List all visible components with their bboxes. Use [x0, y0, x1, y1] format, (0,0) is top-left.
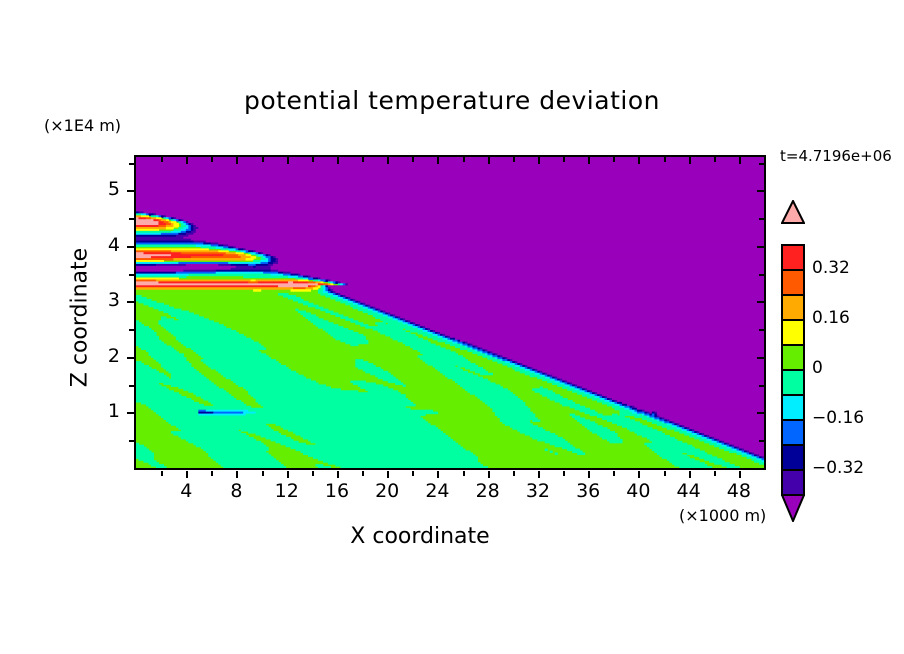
x-tick-top	[488, 157, 490, 164]
x-tick	[236, 471, 238, 478]
y-units-label: (×1E4 m)	[44, 116, 121, 135]
colorbar-tick-label: 0.16	[812, 308, 850, 328]
colorbar-tick-label: −0.32	[812, 458, 864, 478]
x-tick	[211, 471, 213, 476]
x-units-label: (×1000 m)	[679, 506, 766, 525]
y-tick-right	[759, 440, 764, 442]
x-tick	[638, 471, 640, 478]
x-tick-top	[236, 157, 238, 164]
y-tick-right	[759, 218, 764, 220]
colorbar-swatch[interactable]	[781, 469, 805, 496]
page-title: potential temperature deviation	[0, 86, 904, 115]
y-tick-right	[757, 357, 764, 359]
y-tick-right	[757, 246, 764, 248]
colorbar-under-arrow	[781, 494, 805, 522]
y-tick	[127, 357, 134, 359]
x-tick-top	[362, 157, 364, 162]
x-tick	[463, 471, 465, 476]
x-tick	[412, 471, 414, 476]
colorbar-swatch[interactable]	[781, 319, 805, 346]
x-tick-top	[287, 157, 289, 164]
y-tick-label: 4	[84, 234, 120, 256]
x-tick-top	[337, 157, 339, 164]
x-tick	[362, 471, 364, 476]
x-tick	[262, 471, 264, 476]
colorbar-swatch[interactable]	[781, 444, 805, 471]
x-tick-label: 40	[615, 480, 661, 502]
x-tick-label: 4	[163, 480, 209, 502]
colorbar-swatch[interactable]	[781, 419, 805, 446]
x-axis-title: X coordinate	[240, 524, 600, 549]
x-tick-top	[262, 157, 264, 162]
y-tick-right	[759, 274, 764, 276]
x-tick-label: 32	[515, 480, 561, 502]
x-tick	[613, 471, 615, 476]
x-tick-top	[613, 157, 615, 162]
x-tick-top	[161, 157, 163, 162]
x-tick-top	[638, 157, 640, 164]
x-tick-label: 20	[364, 480, 410, 502]
x-tick-label: 16	[314, 480, 360, 502]
x-tick-label: 12	[264, 480, 310, 502]
y-tick-label: 5	[84, 178, 120, 200]
x-tick	[689, 471, 691, 478]
y-tick	[127, 246, 134, 248]
colorbar-tick-label: 0.32	[812, 258, 850, 278]
y-tick	[129, 440, 134, 442]
x-tick-top	[186, 157, 188, 164]
y-tick	[127, 301, 134, 303]
x-tick	[437, 471, 439, 478]
x-tick-top	[689, 157, 691, 164]
y-tick	[127, 190, 134, 192]
y-tick-right	[757, 412, 764, 414]
colorbar-tick-label: −0.16	[812, 408, 864, 428]
x-tick-label: 36	[565, 480, 611, 502]
y-tick-label: 3	[84, 289, 120, 311]
heatmap-plot-area	[134, 155, 766, 470]
x-tick	[714, 471, 716, 476]
x-tick-top	[664, 157, 666, 162]
x-tick-label: 8	[213, 480, 259, 502]
x-tick	[664, 471, 666, 476]
colorbar[interactable]	[781, 222, 805, 517]
y-tick	[129, 274, 134, 276]
y-tick	[129, 329, 134, 331]
y-tick-right	[759, 385, 764, 387]
x-tick	[488, 471, 490, 478]
x-tick	[387, 471, 389, 478]
x-tick-top	[714, 157, 716, 162]
y-tick	[129, 218, 134, 220]
y-tick-right	[759, 163, 764, 165]
colorbar-swatch[interactable]	[781, 344, 805, 371]
y-tick-right	[757, 301, 764, 303]
x-tick	[563, 471, 565, 476]
y-tick-label: 1	[84, 400, 120, 422]
x-tick-top	[463, 157, 465, 162]
x-tick-label: 48	[716, 480, 762, 502]
x-tick	[161, 471, 163, 476]
x-tick-top	[211, 157, 213, 162]
y-tick-right	[759, 329, 764, 331]
x-tick-top	[437, 157, 439, 164]
x-tick	[287, 471, 289, 478]
contour-field	[136, 157, 764, 468]
colorbar-tick-label: 0	[812, 358, 823, 378]
colorbar-swatch[interactable]	[781, 269, 805, 296]
y-tick	[127, 412, 134, 414]
x-tick-label: 28	[465, 480, 511, 502]
colorbar-swatch[interactable]	[781, 294, 805, 321]
x-tick-top	[312, 157, 314, 162]
x-tick-top	[739, 157, 741, 164]
y-tick-label: 2	[84, 345, 120, 367]
y-tick	[129, 385, 134, 387]
x-tick	[337, 471, 339, 478]
x-tick-top	[513, 157, 515, 162]
x-tick-top	[563, 157, 565, 162]
x-tick	[513, 471, 515, 476]
x-tick-label: 24	[414, 480, 460, 502]
colorbar-swatch[interactable]	[781, 369, 805, 396]
colorbar-swatch[interactable]	[781, 394, 805, 421]
time-annotation: t=4.7196e+06	[780, 147, 892, 165]
x-tick	[186, 471, 188, 478]
x-tick-top	[538, 157, 540, 164]
x-tick-top	[588, 157, 590, 164]
x-tick	[312, 471, 314, 476]
x-tick	[739, 471, 741, 478]
x-tick-top	[412, 157, 414, 162]
y-tick-right	[757, 190, 764, 192]
x-tick-top	[387, 157, 389, 164]
colorbar-swatch[interactable]	[781, 244, 805, 271]
x-tick-label: 44	[666, 480, 712, 502]
colorbar-over-arrow	[781, 200, 805, 224]
x-tick	[538, 471, 540, 478]
figure-canvas: potential temperature deviation (×1E4 m)…	[0, 0, 904, 654]
x-tick	[588, 471, 590, 478]
y-tick	[129, 163, 134, 165]
